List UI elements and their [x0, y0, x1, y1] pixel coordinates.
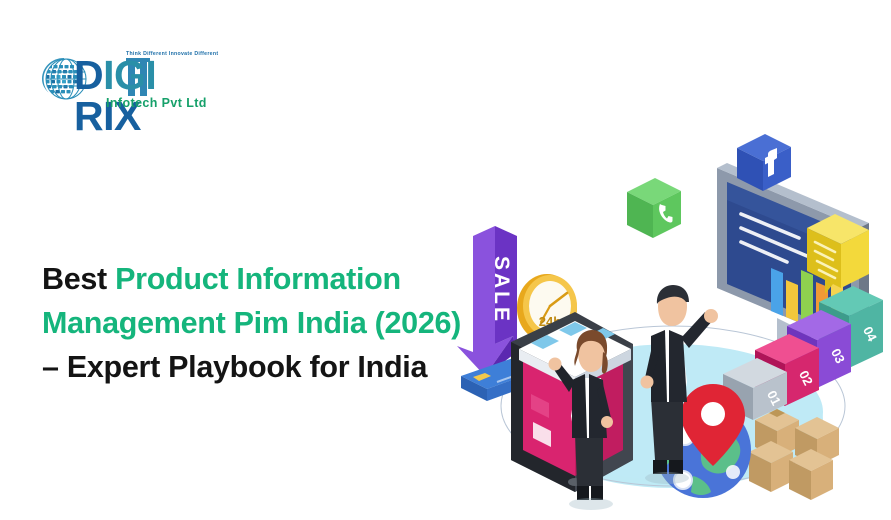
- headline-lead: Best: [42, 262, 115, 296]
- sale-arrow: SALE: [457, 226, 517, 376]
- digitrix-infotech-logo[interactable]: Think Different Innovate Different DIGIR…: [40, 45, 230, 120]
- page-title: Best Product Information Management Pim …: [42, 258, 462, 390]
- sale-arrow-label: SALE: [490, 256, 513, 324]
- headline-tail: – Expert Playbook for India: [42, 350, 427, 384]
- hero-banner: Think Different Innovate Different DIGIR…: [0, 0, 891, 520]
- globe-marker-3: [726, 465, 740, 479]
- woman-hand: [549, 358, 562, 371]
- ecommerce-isometric-illustration: SALE 24h: [455, 130, 891, 520]
- logo-letter-d: D: [74, 52, 103, 98]
- phone-icon: [627, 178, 681, 238]
- woman-hand-2: [601, 416, 613, 428]
- logo-subtitle: Infotech Pvt Ltd: [106, 96, 207, 110]
- logo-letters-igi: IGI: [103, 52, 156, 98]
- man-hand: [704, 309, 718, 323]
- man-hand-2: [641, 376, 654, 389]
